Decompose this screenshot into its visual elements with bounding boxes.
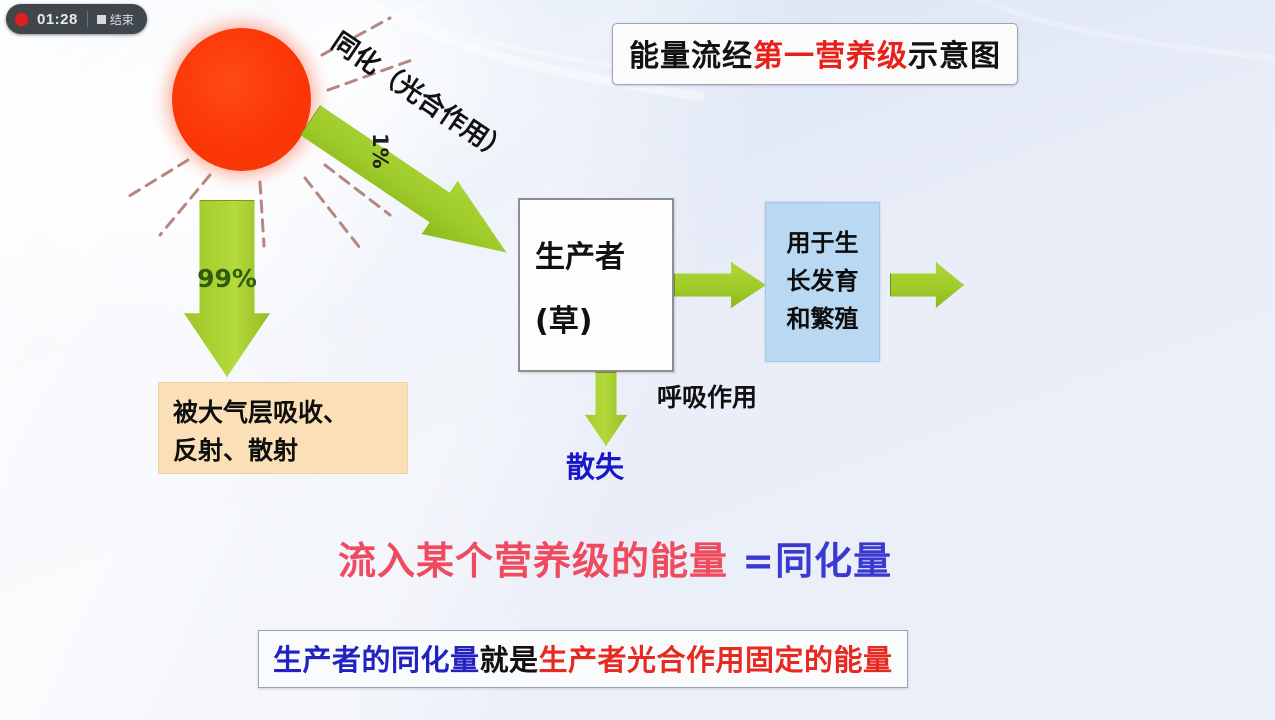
atmosphere-box: 被大气层吸收、 反射、散射 [158, 382, 408, 474]
dissipate-label: 散失 [566, 444, 624, 486]
equation-right: =同化量 [742, 539, 892, 583]
growth-box: 用于生 长发育 和繁殖 [765, 202, 880, 362]
growth-output-arrow [890, 262, 964, 308]
sun-icon [172, 28, 311, 171]
conclusion-part-1: 生产者的同化量 [273, 643, 480, 677]
growth-line-2: 长发育 [766, 261, 879, 296]
producer-line-2: (草) [520, 296, 687, 340]
slide-canvas: 01:28 结束 能量流经第一营养级示意图 99% 被大气层吸收、 反射、散射 [0, 0, 1275, 720]
title-prefix: 能量流经 [629, 39, 753, 74]
equation-statement: 流入某个营养级的能量 =同化量 [338, 530, 892, 585]
conclusion-part-3: 生产者光合作用固定的能量 [539, 643, 893, 677]
atmosphere-line-1: 被大气层吸收、 [173, 393, 348, 429]
atmosphere-line-2: 反射、散射 [173, 431, 298, 467]
producer-box: 生产者 (草) [518, 198, 674, 372]
respiration-arrow [585, 372, 627, 446]
record-dot-icon [15, 13, 28, 26]
loss-percent-label: 99% [196, 264, 258, 293]
conclusion-text: 生产者的同化量就是生产者光合作用固定的能量 [273, 643, 893, 677]
producer-line-1: 生产者 [520, 232, 687, 276]
conclusion-box: 生产者的同化量就是生产者光合作用固定的能量 [258, 630, 908, 688]
title-suffix: 示意图 [908, 39, 1001, 74]
slide-title: 能量流经第一营养级示意图 [629, 39, 1001, 74]
respiration-label: 呼吸作用 [657, 378, 757, 414]
growth-line-1: 用于生 [766, 223, 879, 258]
conclusion-part-2: 就是 [480, 643, 539, 677]
title-highlight: 第一营养级 [753, 39, 908, 74]
growth-line-3: 和繁殖 [766, 299, 879, 334]
equation-left: 流入某个营养级的能量 [338, 539, 728, 583]
assimilation-percent-label: 1% [368, 133, 392, 169]
producer-to-growth-arrow [674, 262, 766, 308]
slide-title-box: 能量流经第一营养级示意图 [612, 23, 1018, 85]
